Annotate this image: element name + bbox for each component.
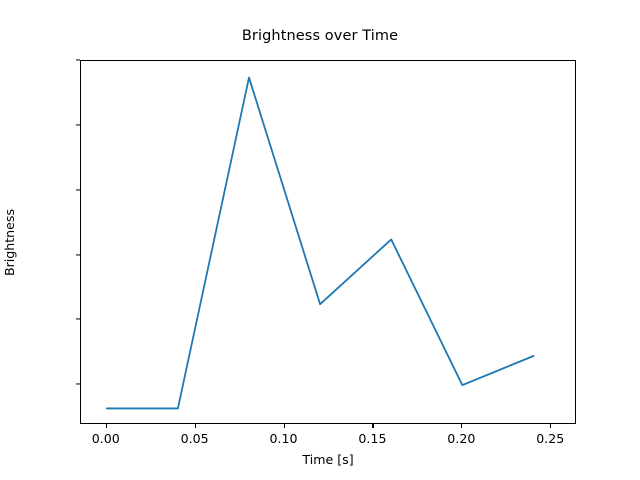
x-tick-label: 0.25 (536, 431, 564, 446)
chart-title: Brightness over Time (0, 28, 640, 44)
data-series-line (107, 78, 534, 409)
plot-area (80, 60, 576, 424)
x-tick-label: 0.00 (92, 431, 120, 446)
data-line-svg (81, 61, 577, 425)
x-tick-label: 0.05 (181, 431, 209, 446)
x-axis-label: Time [s] (80, 452, 576, 467)
y-axis-label-text: Brightness (3, 208, 18, 275)
x-tick-label: 0.20 (447, 431, 475, 446)
x-tick-label: 0.15 (358, 431, 386, 446)
chart-figure: Brightness over Time Brightness Time [s]… (0, 0, 640, 480)
y-axis-label: Brightness (0, 60, 20, 424)
x-tick-label: 0.10 (270, 431, 298, 446)
